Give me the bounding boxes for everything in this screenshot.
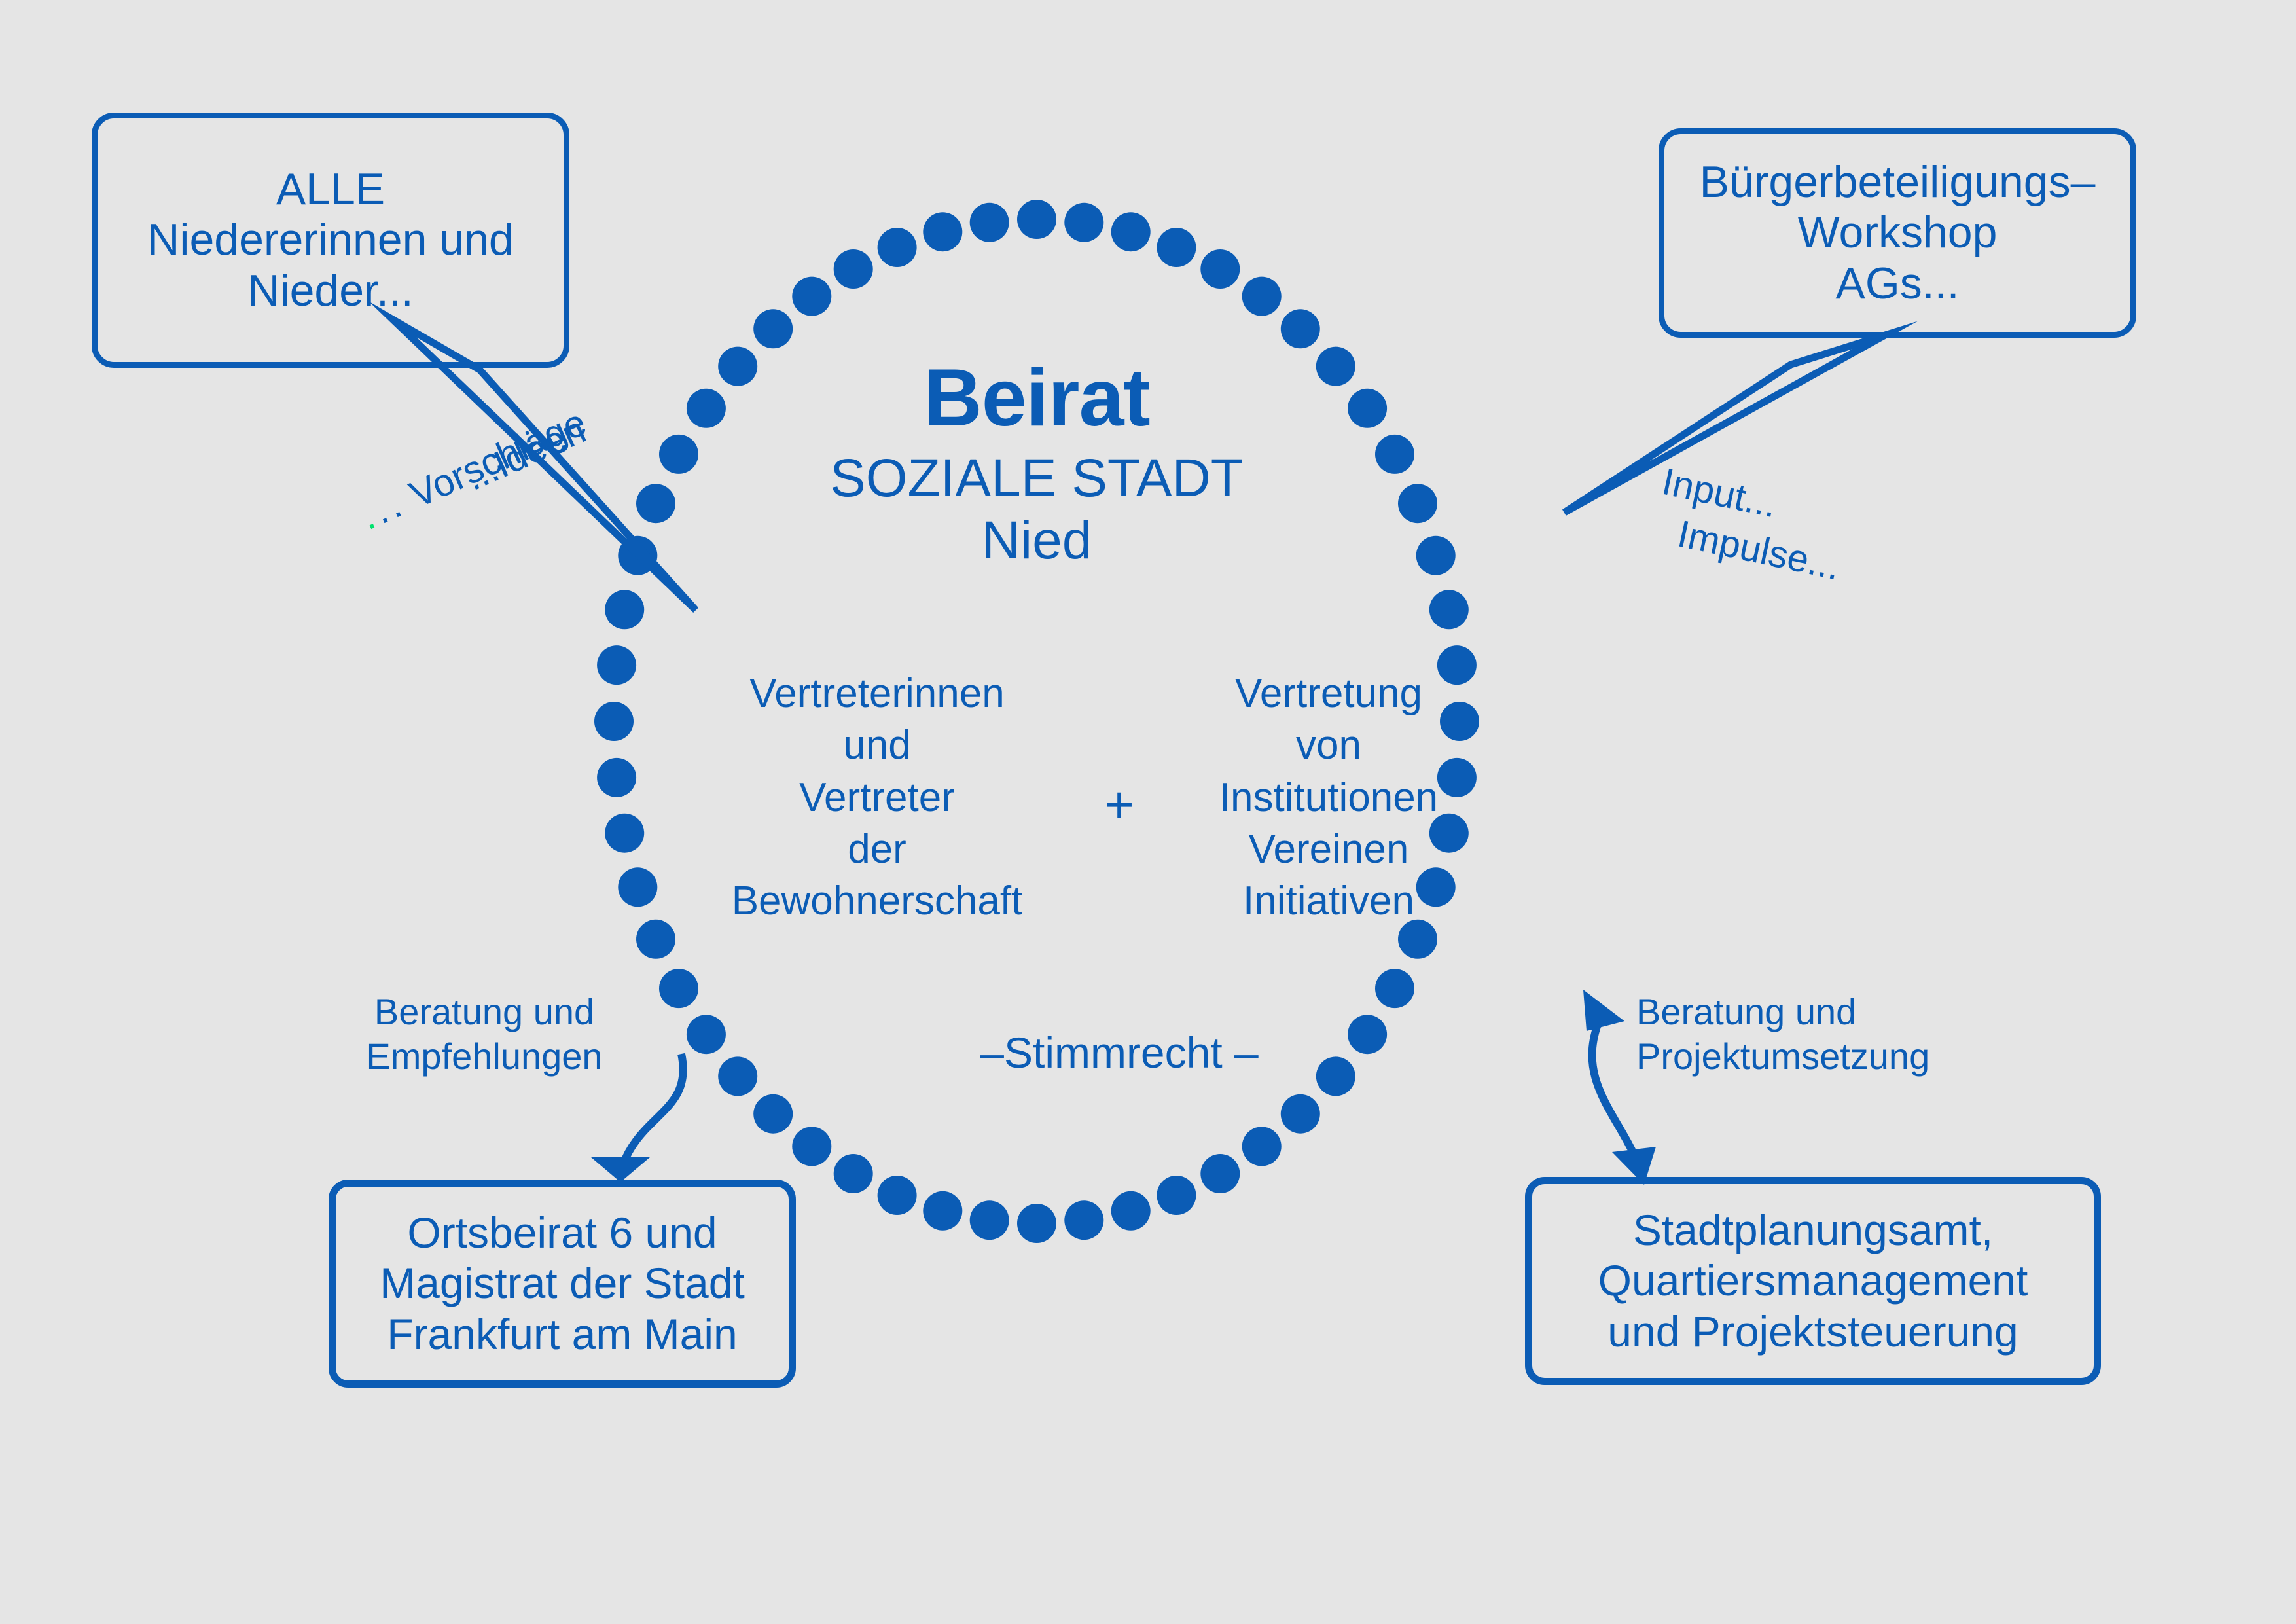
- arrowhead-up-left: [1583, 990, 1624, 1031]
- speech-bubble-all-residents: ALLE Niedererinnen und Nieder...: [92, 113, 569, 368]
- outcome-box-ortsbeirat: Ortsbeirat 6 und Magistrat der Stadt Fra…: [329, 1180, 796, 1388]
- diagram-canvas: ALLE Niedererinnen und Nieder... Bürgerb…: [0, 0, 2296, 1624]
- arrow-beratung-projektumsetzung: [1592, 1021, 1638, 1163]
- centre-subtitle: SOZIALE STADT: [742, 449, 1331, 508]
- box-stadtplanung-line-2: Quartiersmanagement: [1598, 1255, 2028, 1306]
- annotation-beratung-projektumsetzung: Beratung und Projektumsetzung: [1636, 990, 1977, 1079]
- members-right-line-2: von: [1198, 719, 1460, 771]
- bubble-all-line-3: Nieder...: [247, 266, 413, 317]
- box-ortsbeirat-line-3: Frankfurt am Main: [387, 1309, 737, 1360]
- bubble-workshop-line-1: Bürgerbeteiligungs–: [1700, 157, 2096, 208]
- members-left-line-1: Vertreterinnen: [713, 668, 1041, 719]
- members-column-residents: Vertreterinnen und Vertreter der Bewohne…: [713, 668, 1041, 928]
- members-column-institutions: Vertretung von Institutionen Vereinen In…: [1198, 668, 1460, 928]
- bubble-workshop-line-3: AGs...: [1836, 259, 1960, 310]
- members-right-line-5: Initiativen: [1198, 875, 1460, 927]
- page-title: Beirat: [742, 353, 1331, 442]
- bubble-all-line-1: ALLE: [276, 164, 385, 215]
- centre-place: Nied: [742, 511, 1331, 570]
- members-right-line-3: Institutionen: [1198, 772, 1460, 823]
- annotation-beratung-empfehlungen: Beratung und Empfehlungen: [340, 990, 628, 1079]
- bubble-workshop-line-2: Workshop: [1798, 208, 1998, 259]
- centre-title-block: Beirat SOZIALE STADT Nied: [742, 353, 1331, 570]
- voting-rights-note: –Stimmrecht –: [857, 1028, 1381, 1077]
- members-left-line-5: Bewohnerschaft: [713, 875, 1041, 927]
- box-ortsbeirat-line-2: Magistrat der Stadt: [380, 1258, 745, 1308]
- box-ortsbeirat-line-1: Ortsbeirat 6 und: [407, 1208, 717, 1258]
- bubble-all-line-2: Niedererinnen und: [147, 215, 514, 266]
- annotation-beratung-left-line-2: Empfehlungen: [340, 1034, 628, 1079]
- members-left-line-3: Vertreter: [713, 772, 1041, 823]
- annotation-beratung-right-line-1: Beratung und: [1636, 990, 1977, 1034]
- arrowhead-down-left: [591, 1157, 650, 1182]
- speech-bubble-participation: Bürgerbeteiligungs– Workshop AGs...: [1659, 128, 2136, 338]
- members-right-line-4: Vereinen: [1198, 823, 1460, 875]
- plus-sign: +: [1073, 779, 1165, 830]
- outcome-box-stadtplanung: Stadtplanungsamt, Quartiersmanagement un…: [1525, 1177, 2101, 1385]
- members-right-line-1: Vertretung: [1198, 668, 1460, 719]
- members-left-line-2: und: [713, 719, 1041, 771]
- arrow-beratung-empfehlungen: [620, 1054, 683, 1172]
- box-stadtplanung-line-1: Stadtplanungsamt,: [1633, 1205, 1993, 1255]
- annotation-beratung-left-line-1: Beratung und: [340, 990, 628, 1034]
- annotation-beratung-right-line-2: Projektumsetzung: [1636, 1034, 1977, 1079]
- members-left-line-4: der: [713, 823, 1041, 875]
- box-stadtplanung-line-3: und Projektsteuerung: [1607, 1307, 2018, 1357]
